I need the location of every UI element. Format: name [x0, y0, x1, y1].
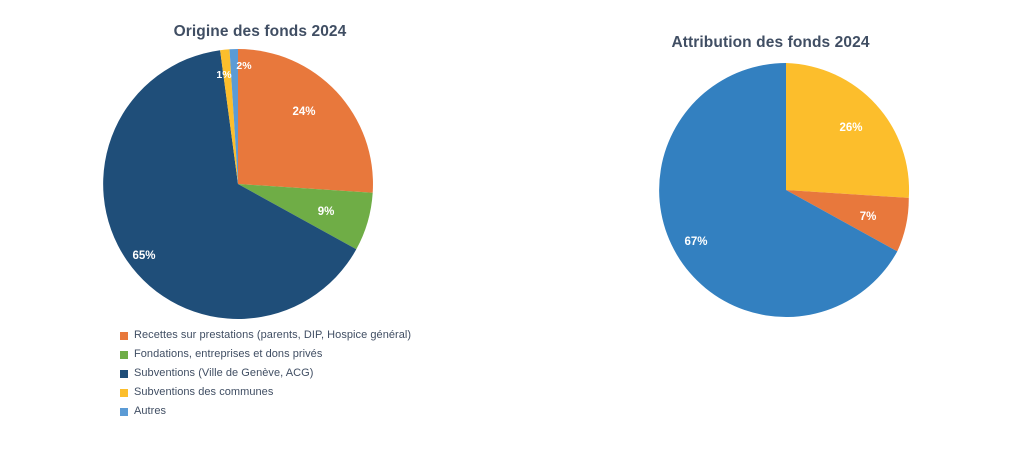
legend-label-recettes: Recettes sur prestations (parents, DIP, …: [134, 329, 411, 342]
pie-label-autres: 2%: [236, 60, 252, 72]
legend-item-autres[interactable]: Autres: [120, 402, 411, 421]
pie-label-subventions-communes: 1%: [216, 69, 232, 81]
legend-swatch-icon-subventions-ville: [120, 370, 128, 378]
legend-item-fondations[interactable]: Fondations, entreprises et dons privés: [120, 345, 411, 364]
legend-origine: Recettes sur prestations (parents, DIP, …: [120, 326, 411, 421]
legend-label-fondations: Fondations, entreprises et dons privés: [134, 348, 322, 361]
pie-label-fondations: 9%: [318, 206, 335, 218]
pie-label-cppa: 26%: [839, 122, 862, 134]
pie-label-huma: 67%: [684, 236, 707, 248]
pie-label-atelier: 7%: [860, 211, 877, 223]
chart-origine-des-fonds: Origine des fonds 2024 24% 9% 65% 1% 2%: [0, 0, 520, 457]
pie-chart-origine: 24% 9% 65% 1% 2%: [102, 48, 374, 320]
pie-label-subventions-ville: 65%: [132, 250, 155, 262]
legend-label-autres: Autres: [134, 405, 166, 418]
legend-swatch-icon-recettes: [120, 332, 128, 340]
pie-label-recettes: 24%: [292, 106, 315, 118]
legend-item-subventions-ville[interactable]: Subventions (Ville de Genève, ACG): [120, 364, 411, 383]
legend-item-recettes[interactable]: Recettes sur prestations (parents, DIP, …: [120, 326, 411, 345]
legend-label-subventions-communes: Subventions des communes: [134, 386, 273, 399]
page-title-attribution: Attribution des fonds 2024: [520, 34, 1021, 52]
legend-swatch-icon-fondations: [120, 351, 128, 359]
page-title-origine: Origine des fonds 2024: [0, 23, 520, 41]
legend-swatch-icon-subventions-communes: [120, 389, 128, 397]
legend-swatch-icon-autres: [120, 408, 128, 416]
pie-slice-recettes[interactable]: [238, 49, 373, 193]
pie-chart-attribution: 26% 7% 67%: [658, 62, 914, 318]
legend-item-subventions-communes[interactable]: Subventions des communes: [120, 383, 411, 402]
slide-canvas: Origine des fonds 2024 24% 9% 65% 1% 2%: [0, 0, 1021, 457]
chart-attribution-des-fonds: Attribution des fonds 2024 26% 7% 67% CP…: [520, 0, 1021, 457]
legend-label-subventions-ville: Subventions (Ville de Genève, ACG): [134, 367, 313, 380]
